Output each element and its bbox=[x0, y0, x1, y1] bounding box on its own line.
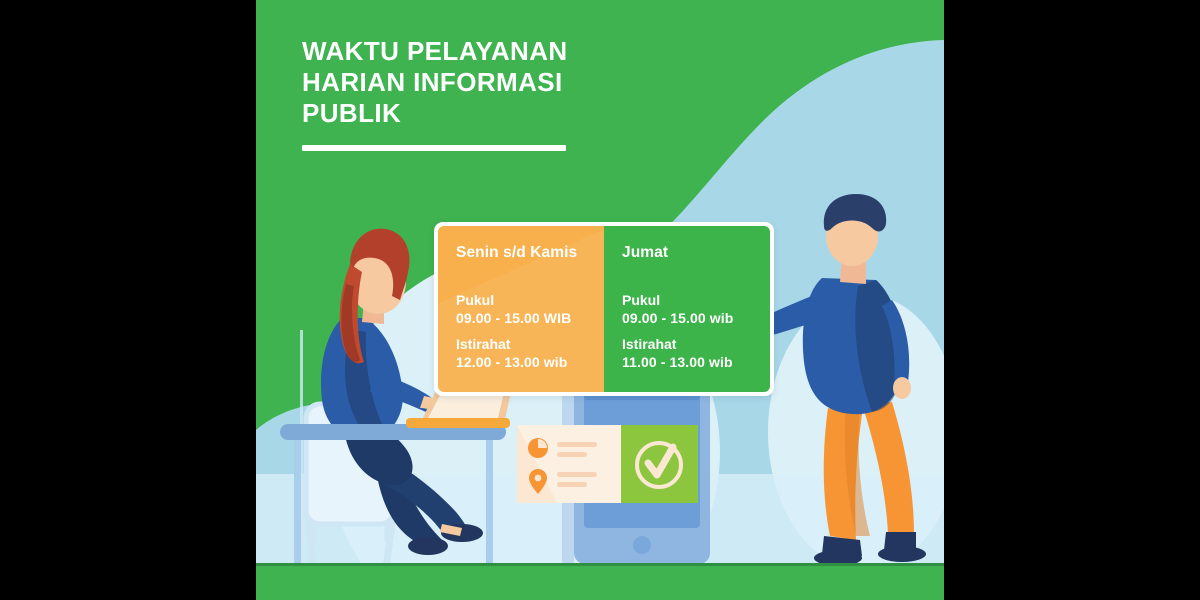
schedule-column-weekdays[interactable]: Senin s/d Kamis Pukul 09.00 - 15.00 WIB … bbox=[438, 226, 604, 392]
location-pin-icon-dot bbox=[535, 475, 542, 482]
woman-shoe-back bbox=[408, 537, 448, 555]
schedule-card[interactable]: Senin s/d Kamis Pukul 09.00 - 15.00 WIB … bbox=[434, 222, 774, 396]
schedule-row-label: Istirahat bbox=[622, 336, 770, 353]
schedule-row-label: Pukul bbox=[456, 292, 604, 309]
info-text-line bbox=[557, 452, 587, 457]
desk-leg-left bbox=[294, 440, 301, 566]
schedule-row-label: Istirahat bbox=[456, 336, 604, 353]
schedule-row-value: 12.00 - 13.00 wib bbox=[456, 353, 604, 371]
schedule-row-break: Istirahat 12.00 - 13.00 wib bbox=[456, 336, 604, 371]
schedule-row-value: 09.00 - 15.00 WIB bbox=[456, 309, 604, 327]
floor-green-band bbox=[256, 563, 944, 600]
schedule-row-value: 09.00 - 15.00 wib bbox=[622, 309, 770, 327]
schedule-row-break: Istirahat 11.00 - 13.00 wib bbox=[622, 336, 770, 371]
schedule-row-value: 11.00 - 13.00 wib bbox=[622, 353, 770, 371]
info-text-line bbox=[557, 442, 597, 447]
floor-shadow-line bbox=[256, 563, 944, 566]
desk-leg-right bbox=[486, 440, 493, 566]
man-hand-right bbox=[893, 377, 911, 399]
screenshot-canvas: WAKTU PELAYANAN HARIAN INFORMASI PUBLIK bbox=[0, 0, 1200, 600]
info-text-line bbox=[557, 472, 597, 477]
poster-artboard: WAKTU PELAYANAN HARIAN INFORMASI PUBLIK bbox=[256, 0, 944, 600]
schedule-day-label: Jumat bbox=[622, 244, 770, 262]
man-leg-front bbox=[862, 402, 914, 534]
schedule-row-label: Pukul bbox=[622, 292, 770, 309]
info-card bbox=[517, 425, 698, 503]
laptop-keyboard bbox=[406, 418, 510, 428]
info-text-line bbox=[557, 482, 587, 487]
schedule-row-hours: Pukul 09.00 - 15.00 WIB bbox=[456, 292, 604, 327]
schedule-column-friday[interactable]: Jumat Pukul 09.00 - 15.00 wib Istirahat … bbox=[604, 226, 770, 392]
schedule-day-label: Senin s/d Kamis bbox=[456, 244, 604, 262]
man-shoe-front bbox=[878, 546, 926, 562]
schedule-row-hours: Pukul 09.00 - 15.00 wib bbox=[622, 292, 770, 327]
